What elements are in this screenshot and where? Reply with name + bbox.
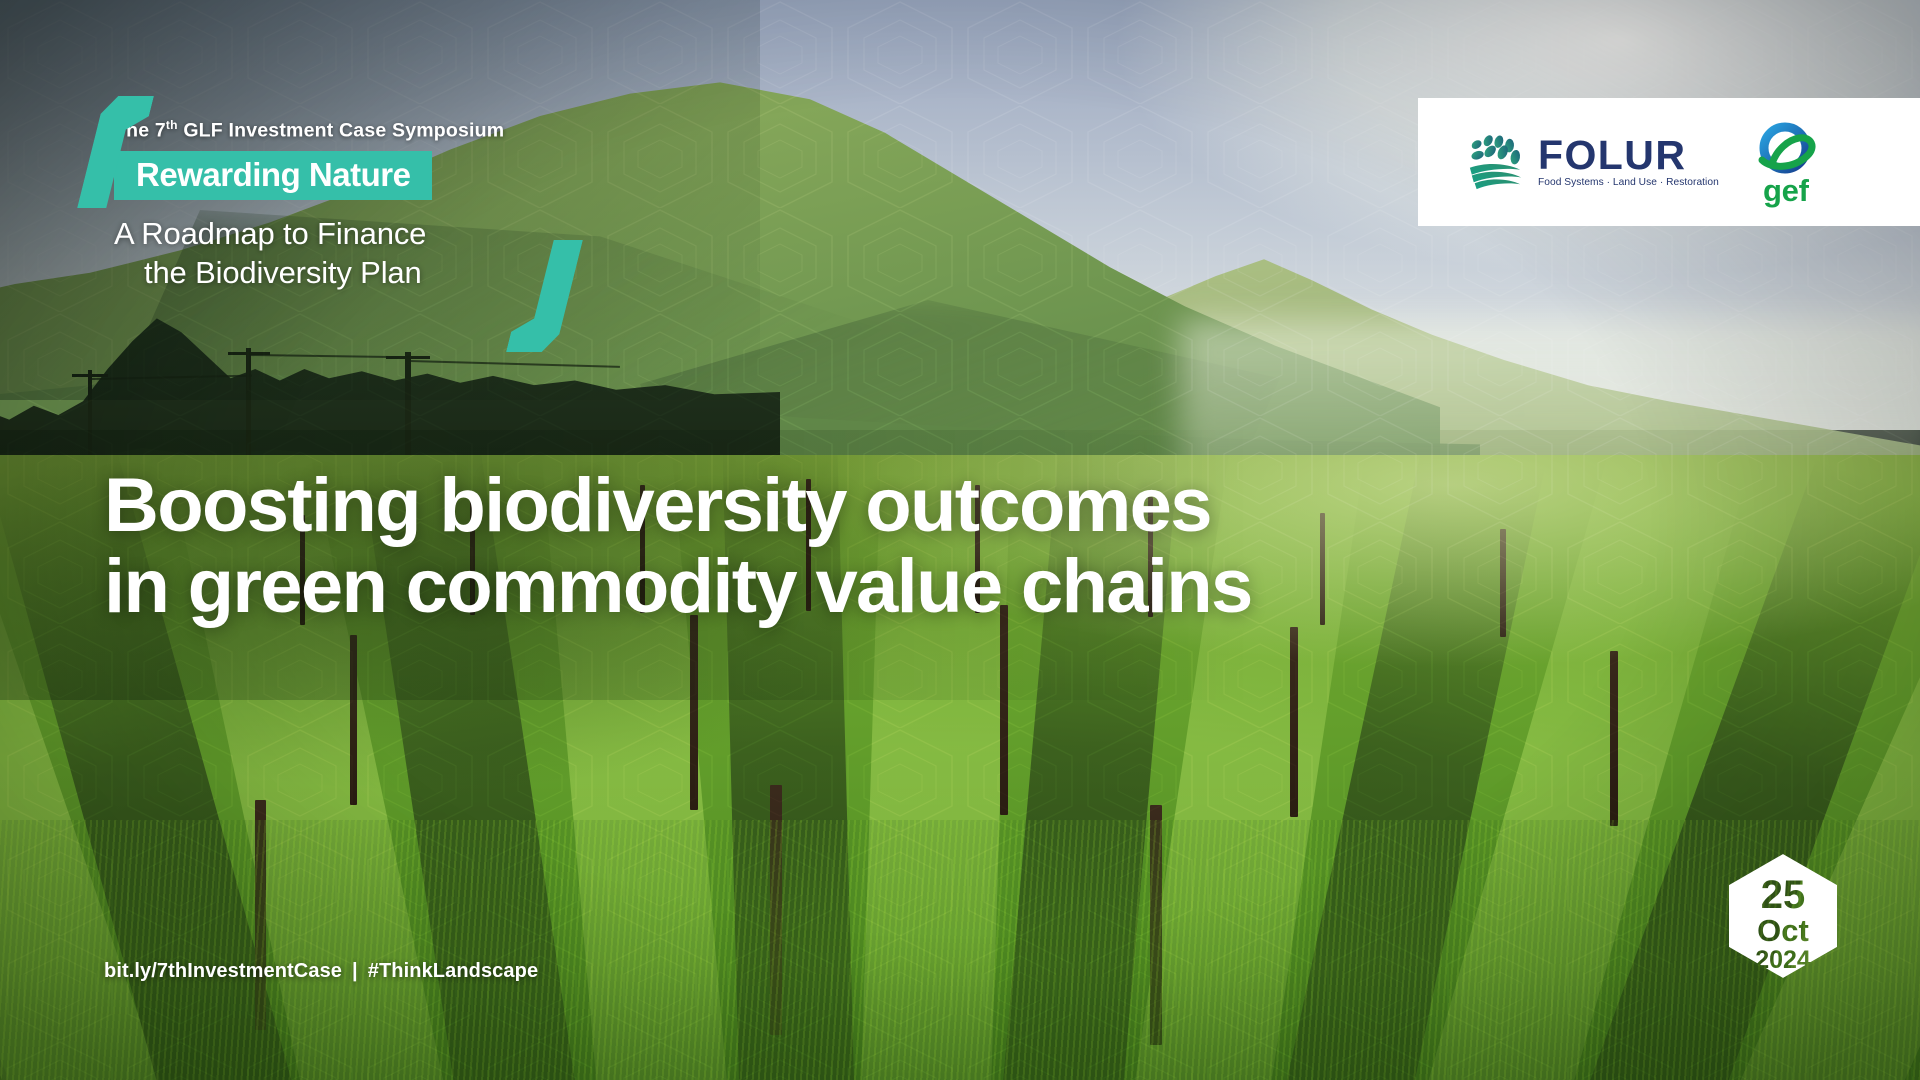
- event-subtitle: A Roadmap to Finance the Biodiversity Pl…: [114, 214, 616, 292]
- trellis-post: [350, 635, 357, 805]
- headline-line-1: Boosting biodiversity outcomes: [104, 463, 1211, 548]
- trellis-post: [1320, 513, 1325, 625]
- gef-logo: gef: [1753, 120, 1819, 204]
- utility-pole: [88, 370, 92, 466]
- folur-leaf-icon: [1464, 133, 1526, 191]
- folur-tagline: Food Systems · Land Use · Restoration: [1538, 177, 1719, 188]
- trellis-post: [1610, 651, 1618, 826]
- event-kicker-suffix: GLF Investment Case Symposium: [178, 120, 505, 142]
- trellis-post: [1290, 627, 1298, 817]
- footer-separator: |: [342, 960, 368, 982]
- gef-globe-icon: [1753, 120, 1819, 180]
- date-badge-hexagon-icon: 25 Oct 2024: [1724, 852, 1842, 980]
- partner-logo-panel: FOLUR Food Systems · Land Use · Restorat…: [1418, 98, 1920, 226]
- main-headline: Boosting biodiversity outcomes in green …: [104, 466, 1252, 627]
- footer-links: bit.ly/7thInvestmentCase|#ThinkLandscape: [104, 960, 538, 983]
- date-badge: 25 Oct 2024: [1724, 852, 1842, 980]
- trellis-post: [690, 615, 698, 810]
- folur-wordmark: FOLUR: [1538, 136, 1719, 175]
- headline-line-2: in green commodity value chains: [104, 547, 1252, 628]
- trellis-post: [1150, 805, 1162, 1045]
- event-subtitle-line1: A Roadmap to Finance: [114, 216, 426, 251]
- event-url-link[interactable]: bit.ly/7thInvestmentCase: [104, 960, 342, 982]
- event-hashtag[interactable]: #ThinkLandscape: [368, 960, 538, 982]
- gef-wordmark: gef: [1763, 178, 1809, 204]
- trellis-post: [770, 785, 782, 1035]
- event-promo-banner: The 7th GLF Investment Case Symposium Re…: [0, 0, 1920, 1080]
- event-branding-block: The 7th GLF Investment Case Symposium Re…: [96, 118, 616, 292]
- trellis-post: [255, 800, 266, 1030]
- folur-logo: FOLUR Food Systems · Land Use · Restorat…: [1464, 133, 1719, 191]
- event-subtitle-line2: the Biodiversity Plan: [114, 253, 616, 292]
- trellis-post: [1500, 529, 1506, 637]
- folur-wordmark-group: FOLUR Food Systems · Land Use · Restorat…: [1538, 136, 1719, 189]
- event-title: Rewarding Nature: [114, 151, 432, 200]
- event-kicker: The 7th GLF Investment Case Symposium: [114, 118, 616, 143]
- event-kicker-ordinal: th: [166, 118, 178, 132]
- utility-pole-crossarm: [72, 374, 108, 377]
- trellis-post: [1000, 605, 1008, 815]
